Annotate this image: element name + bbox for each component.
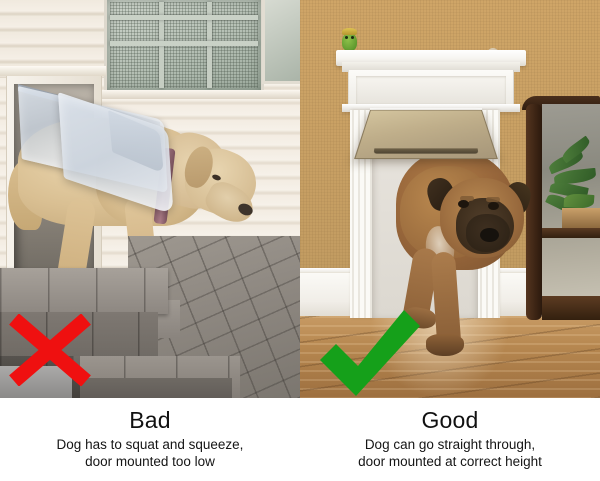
console-shelf <box>542 228 600 238</box>
console-table-leg <box>526 104 542 320</box>
console-table-base <box>542 296 600 320</box>
window-rail <box>110 15 258 20</box>
panel-good <box>300 0 600 398</box>
green-check-icon <box>316 308 420 398</box>
plant-leaf <box>564 193 595 209</box>
pet-door-header-inset <box>356 76 506 104</box>
books-on-shelf <box>562 208 600 228</box>
caption-subtitle-bad-line2: door mounted too low <box>0 453 300 470</box>
window-sill <box>100 90 300 99</box>
photo-strip <box>0 0 600 398</box>
caption-good: Good Dog can go straight through, door m… <box>300 398 600 481</box>
frog-figurine-eye <box>345 36 348 39</box>
caption-row: Bad Dog has to squat and squeeze, door m… <box>0 398 600 481</box>
brown-dog-paw-planted <box>426 334 464 356</box>
window-secondary <box>262 0 300 84</box>
frog-figurine-eye <box>351 36 354 39</box>
pet-door-flap-edge <box>374 148 479 153</box>
comparison-infographic: Bad Dog has to squat and squeeze, door m… <box>0 0 600 481</box>
caption-bad: Bad Dog has to squat and squeeze, door m… <box>0 398 300 481</box>
caption-subtitle-good-line1: Dog can go straight through, <box>300 436 600 453</box>
caption-title-good: Good <box>300 407 600 434</box>
panel-bad <box>0 0 300 398</box>
pet-door-header-low <box>0 66 106 76</box>
frog-figurine-hat <box>342 28 357 35</box>
red-x-icon <box>8 314 92 386</box>
window-rail <box>110 41 258 46</box>
sliding-glass-door <box>104 0 264 94</box>
brown-dog-eye-right <box>488 202 499 210</box>
paver-step-top <box>0 268 168 314</box>
paver-step-lower-face <box>72 378 232 398</box>
caption-subtitle-good-line2: door mounted at correct height <box>300 453 600 470</box>
brown-dog-nose <box>480 228 499 242</box>
caption-title-bad: Bad <box>0 407 300 434</box>
brown-dog-eye-left <box>458 200 469 208</box>
caption-subtitle-bad-line1: Dog has to squat and squeeze, <box>0 436 300 453</box>
